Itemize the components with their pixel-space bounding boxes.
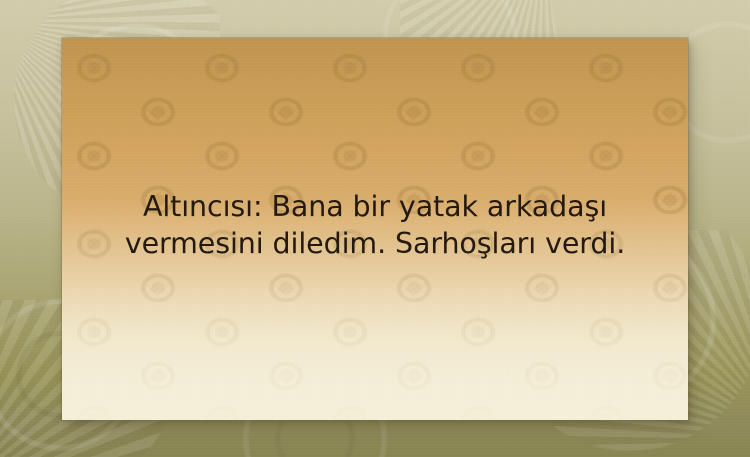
- quote-image-stage: Altıncısı: Bana bir yatak arkadaşı verme…: [0, 0, 750, 457]
- quote-text: Altıncısı: Bana bir yatak arkadaşı verme…: [62, 188, 688, 262]
- quote-card: Altıncısı: Bana bir yatak arkadaşı verme…: [62, 38, 688, 420]
